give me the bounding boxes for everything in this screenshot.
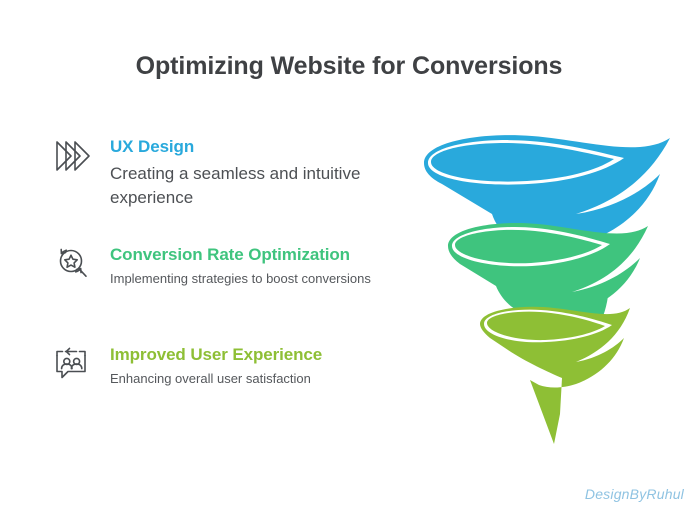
feature-body: Conversion Rate Optimization Implementin… (110, 244, 402, 289)
funnel-segment-green (448, 223, 648, 318)
conversion-funnel-spiral (408, 128, 690, 450)
infographic-canvas: Optimizing Website for Conversions UX De… (0, 0, 698, 516)
speech-bubble-users-icon (52, 344, 96, 384)
feature-description: Implementing strategies to boost convers… (110, 270, 402, 288)
feature-description: Enhancing overall user satisfaction (110, 370, 402, 388)
magnifier-star-icon (52, 244, 96, 284)
feature-heading: Conversion Rate Optimization (110, 244, 402, 265)
feature-heading: Improved User Experience (110, 344, 402, 365)
feature-body: UX Design Creating a seamless and intuit… (110, 136, 402, 211)
watermark: DesignByRuhul (585, 486, 684, 502)
feature-item-ux-design[interactable]: UX Design Creating a seamless and intuit… (52, 136, 402, 244)
page-title: Optimizing Website for Conversions (0, 52, 698, 81)
triple-chevron-arrows-icon (52, 136, 96, 176)
feature-description: Creating a seamless and intuitive experi… (110, 162, 402, 210)
feature-item-improved-user-experience[interactable]: Improved User Experience Enhancing overa… (52, 344, 402, 414)
feature-list: UX Design Creating a seamless and intuit… (52, 136, 402, 414)
feature-body: Improved User Experience Enhancing overa… (110, 344, 402, 389)
feature-item-conversion-rate-optimization[interactable]: Conversion Rate Optimization Implementin… (52, 244, 402, 344)
funnel-segment-yellow-green (480, 307, 630, 444)
feature-heading: UX Design (110, 136, 402, 157)
